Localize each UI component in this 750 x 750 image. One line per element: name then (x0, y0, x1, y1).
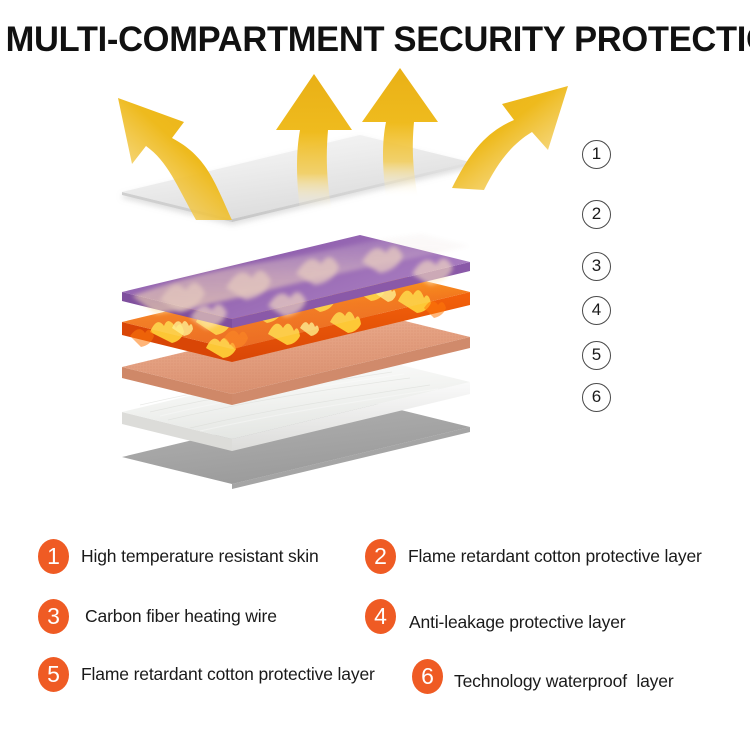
legend-label-2: Flame retardant cotton protective layer (408, 546, 702, 567)
callout-2: 2 (582, 200, 611, 229)
callout-5: 5 (582, 341, 611, 370)
legend-item-1: 1 High temperature resistant skin (38, 539, 319, 574)
legend: 1 High temperature resistant skin 2 Flam… (0, 527, 750, 712)
legend-item-5: 5 Flame retardant cotton protective laye… (38, 657, 375, 692)
callout-6: 6 (582, 383, 611, 412)
legend-badge-3: 3 (38, 599, 69, 634)
legend-label-6: Technology waterproof layer (454, 671, 674, 692)
legend-badge-4: 4 (365, 599, 396, 634)
callout-4: 4 (582, 296, 611, 325)
legend-item-4: 4 Anti-leakage protective layer (365, 599, 625, 634)
layer-stack-diagram: 1 2 3 4 5 6 (0, 60, 750, 510)
legend-item-2: 2 Flame retardant cotton protective laye… (365, 539, 702, 574)
legend-label-1: High temperature resistant skin (81, 546, 319, 567)
legend-badge-2: 2 (365, 539, 396, 574)
legend-label-5: Flame retardant cotton protective layer (81, 664, 375, 685)
legend-badge-6: 6 (412, 659, 443, 694)
callout-1: 1 (582, 140, 611, 169)
legend-label-3: Carbon fiber heating wire (85, 606, 277, 627)
legend-item-3: 3 Carbon fiber heating wire (38, 599, 277, 634)
legend-label-4: Anti-leakage protective layer (409, 612, 625, 633)
legend-item-6: 6 Technology waterproof layer (412, 659, 674, 694)
legend-badge-1: 1 (38, 539, 69, 574)
callout-3: 3 (582, 252, 611, 281)
page-title: MULTI-COMPARTMENT SECURITY PROTECTION (6, 20, 745, 60)
legend-badge-5: 5 (38, 657, 69, 692)
